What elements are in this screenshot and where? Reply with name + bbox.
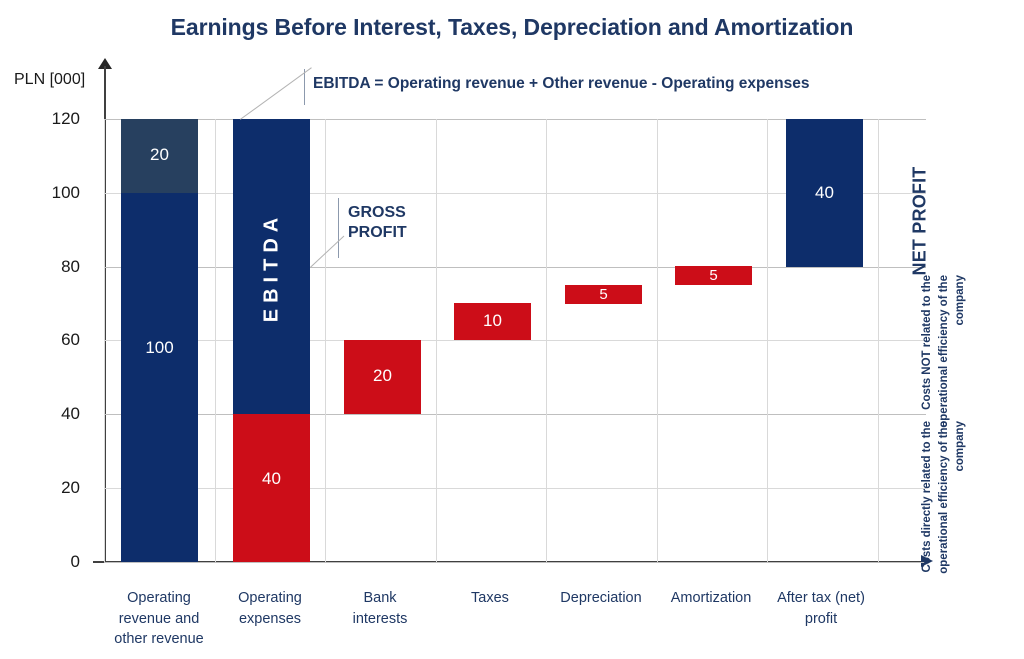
category-label-net-profit: After tax (net) profit <box>761 588 881 629</box>
category-label-line: Operating <box>210 588 330 609</box>
ebitda-waterfall-chart: Earnings Before Interest, Taxes, Depreci… <box>0 0 1024 659</box>
gridline-40 <box>104 414 926 415</box>
category-label-taxes: Taxes <box>430 588 550 609</box>
category-label-line: revenue and <box>99 609 219 630</box>
bar-value-other-revenue: 20 <box>121 145 198 165</box>
y-tick-80: 80 <box>18 257 80 277</box>
category-label-amortization: Amortization <box>651 588 771 609</box>
gridline-80 <box>104 267 926 268</box>
category-label-line: expenses <box>210 609 330 630</box>
bar-segment-taxes[interactable]: 10 <box>454 303 531 340</box>
y-tick-40: 40 <box>18 404 80 424</box>
gross-profit-line-1: GROSS <box>348 203 407 223</box>
bar-segment-ebitda[interactable]: EBITDA <box>233 119 310 414</box>
category-divider-1 <box>215 119 216 562</box>
category-label-line: Depreciation <box>541 588 661 609</box>
bar-segment-net-profit[interactable]: 40 <box>786 119 863 267</box>
category-label-bank-interests: Bank interests <box>320 588 440 629</box>
ebitda-formula-leader-line <box>240 67 312 120</box>
bar-value-net-profit: 40 <box>786 183 863 203</box>
bar-segment-bank-interests[interactable]: 20 <box>344 340 421 414</box>
costs-not-related-annotation: Costs NOT related to the operational eff… <box>919 275 969 435</box>
y-tick-0: 0 <box>18 552 80 572</box>
bar-segment-operating-revenue[interactable]: 100 <box>121 193 198 562</box>
category-divider-6 <box>767 119 768 562</box>
gross-profit-line-2: PROFIT <box>348 223 407 243</box>
gridline-20 <box>104 488 926 489</box>
category-label-line: Bank <box>320 588 440 609</box>
category-label-line: Amortization <box>651 588 771 609</box>
category-divider-7 <box>878 119 879 562</box>
gross-profit-annotation: GROSS PROFIT <box>348 203 407 244</box>
costs-directly-related-annotation: Costs directly related to the operationa… <box>919 421 969 581</box>
y-tick-100: 100 <box>18 183 80 203</box>
category-label-line: other revenue <box>99 629 219 650</box>
y-tick-120: 120 <box>18 109 80 129</box>
bar-segment-operating-expenses[interactable]: 40 <box>233 414 310 562</box>
bar-value-operating-revenue: 100 <box>121 338 198 358</box>
bar-segment-other-revenue[interactable]: 20 <box>121 119 198 193</box>
category-label-line: After tax (net) <box>761 588 881 609</box>
ebitda-bar-vertical-label: EBITDA <box>260 211 283 321</box>
category-divider-5 <box>657 119 658 562</box>
category-divider-3 <box>436 119 437 562</box>
category-label-depreciation: Depreciation <box>541 588 661 609</box>
category-label-line: Operating <box>99 588 219 609</box>
chart-title: Earnings Before Interest, Taxes, Depreci… <box>0 14 1024 41</box>
category-label-operating-expenses: Operating expenses <box>210 588 330 629</box>
y-axis-unit-label: PLN [000] <box>14 71 85 89</box>
net-profit-side-label: NET PROFIT <box>910 126 931 276</box>
category-divider-4 <box>546 119 547 562</box>
category-label-line: interests <box>320 609 440 630</box>
ebitda-formula-rule <box>304 69 305 105</box>
gridline-0 <box>104 562 926 563</box>
bar-value-bank-interests: 20 <box>344 366 421 386</box>
ebitda-formula-annotation: EBITDA = Operating revenue + Other reven… <box>313 75 809 93</box>
category-divider-0 <box>104 119 105 562</box>
y-tick-60: 60 <box>18 330 80 350</box>
category-label-operating-revenue: Operating revenue and other revenue <box>99 588 219 650</box>
bar-value-operating-expenses: 40 <box>233 469 310 489</box>
bar-segment-depreciation[interactable]: 5 <box>565 285 642 304</box>
gross-profit-rule <box>338 198 339 258</box>
gridline-60 <box>104 340 926 341</box>
category-divider-2 <box>325 119 326 562</box>
bar-value-taxes: 10 <box>454 311 531 331</box>
y-tick-20: 20 <box>18 478 80 498</box>
category-label-line: Taxes <box>430 588 550 609</box>
bar-segment-amortization[interactable]: 5 <box>675 266 752 285</box>
bar-value-depreciation: 5 <box>565 286 642 303</box>
bar-value-amortization: 5 <box>675 267 752 284</box>
plot-area: 20 100 EBITDA 40 20 10 5 5 <box>104 119 926 562</box>
category-label-line: profit <box>761 609 881 630</box>
